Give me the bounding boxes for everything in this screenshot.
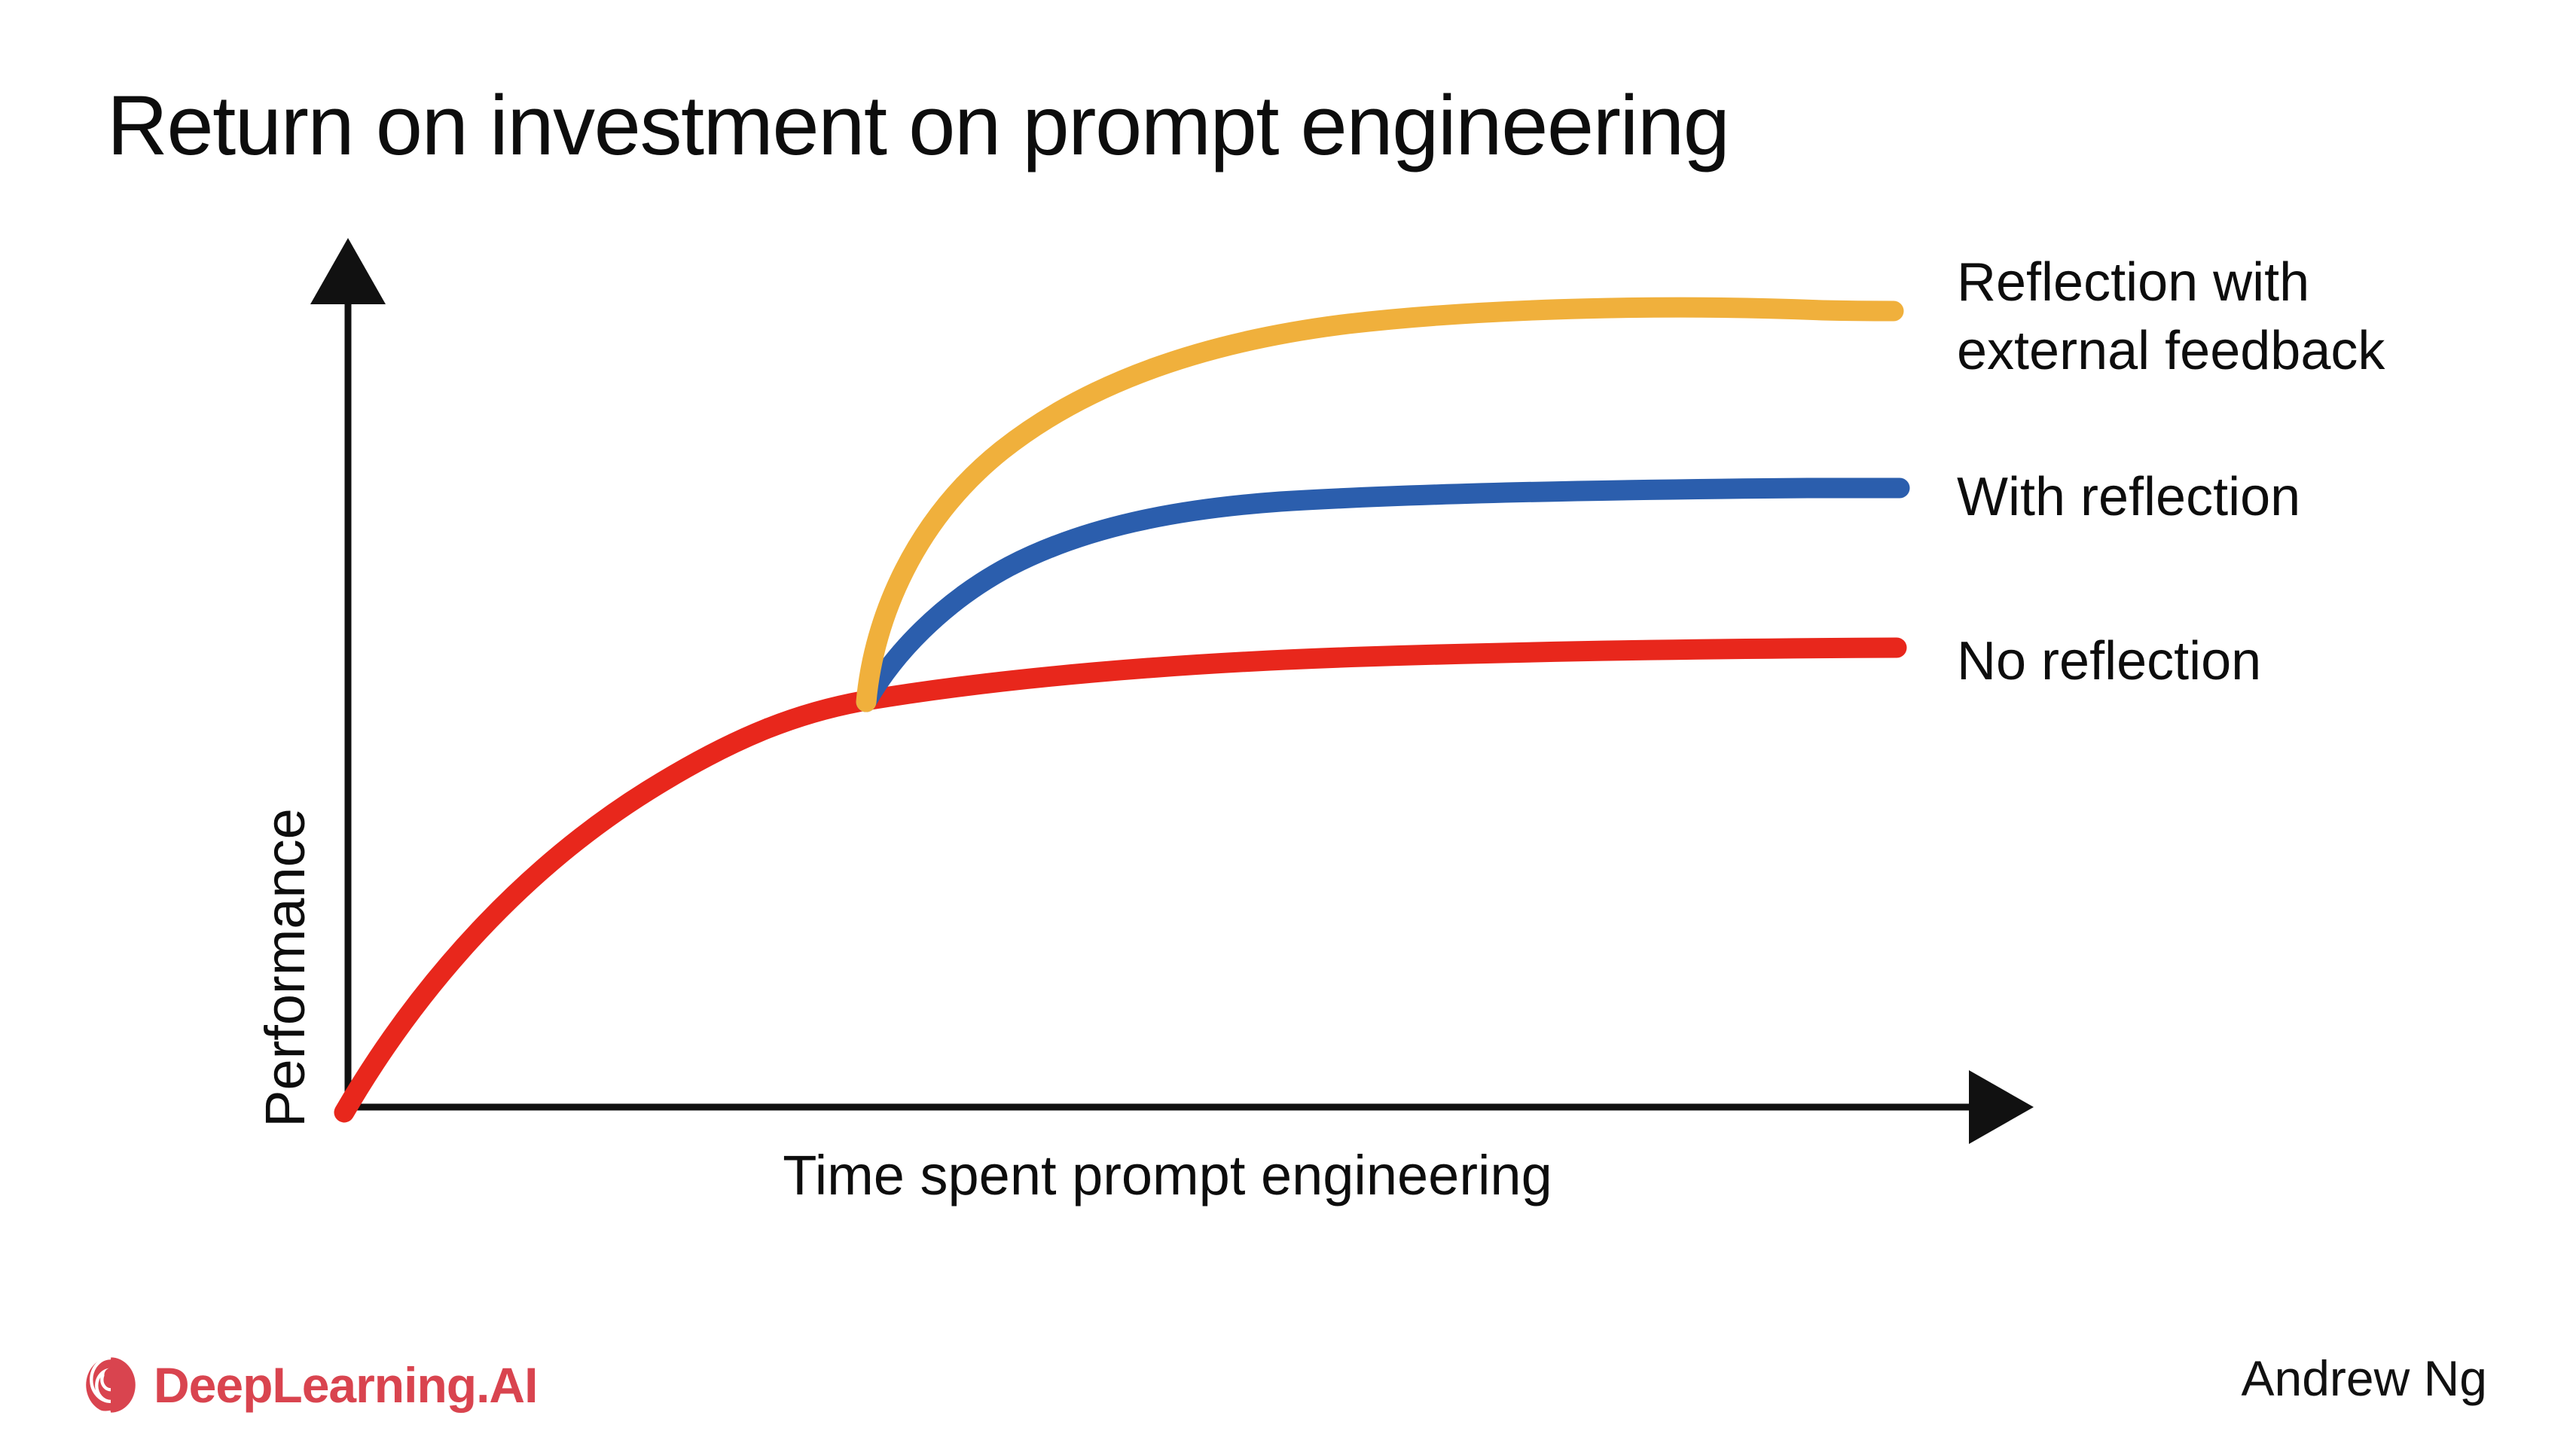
- legend-item-no-reflection: No reflection: [1957, 627, 2261, 696]
- y-axis-arrowhead-icon: [310, 238, 386, 304]
- series-line-no-reflection: [344, 648, 1897, 1112]
- y-axis-label: Performance: [253, 704, 317, 1231]
- slide-canvas: Return on investment on prompt engineeri…: [0, 0, 2576, 1449]
- legend-item-with-reflection: With reflection: [1957, 463, 2300, 532]
- chart-plot-area: [0, 0, 2576, 1449]
- x-axis-arrowhead-icon: [1969, 1070, 2034, 1144]
- series-line-reflection-with-external-feedback: [866, 307, 1894, 702]
- author-credit: Andrew Ng: [2242, 1350, 2488, 1407]
- spiral-logo-icon: [81, 1356, 140, 1414]
- y-axis: [310, 238, 386, 1107]
- page-title: Return on investment on prompt engineeri…: [107, 78, 1729, 172]
- brand-name: DeepLearning.AI: [154, 1360, 537, 1410]
- x-axis: [345, 1070, 2034, 1144]
- series-line-with-reflection: [866, 488, 1900, 702]
- legend-item-reflection-with-external-feedback: Reflection with external feedback: [1957, 249, 2385, 385]
- brand-logo: DeepLearning.AI: [81, 1356, 537, 1414]
- x-axis-label: Time spent prompt engineering: [595, 1142, 1740, 1210]
